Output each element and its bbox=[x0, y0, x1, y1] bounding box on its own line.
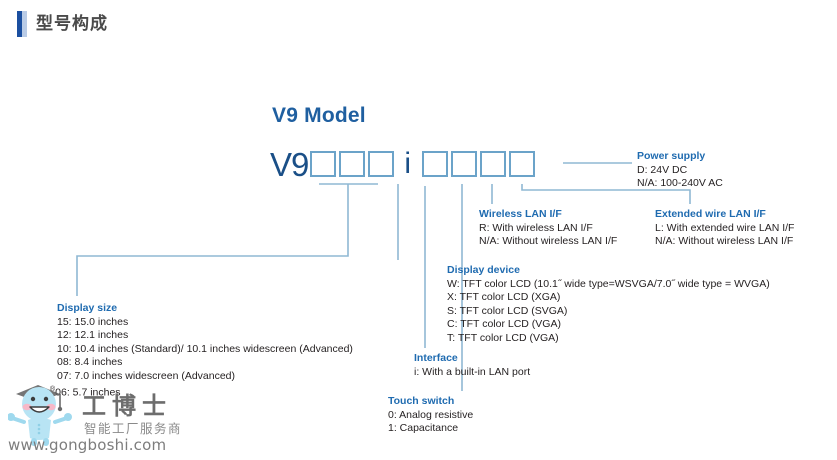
annotation-wireless-lan: Wireless LAN I/F R: With wireless LAN I/… bbox=[479, 208, 617, 249]
annotation-title: Power supply bbox=[637, 150, 723, 164]
annotation-power-supply: Power supply D: 24V DC N/A: 100-240V AC bbox=[637, 150, 723, 191]
annotation-line: D: 24V DC bbox=[637, 164, 723, 178]
code-box-display-size-1[interactable] bbox=[310, 151, 336, 177]
code-box-display-size-2[interactable] bbox=[339, 151, 365, 177]
annotation-line: 0: Analog resistive bbox=[388, 409, 473, 423]
right-box-group bbox=[422, 151, 538, 177]
annotation-line: S: TFT color LCD (SVGA) bbox=[447, 305, 770, 319]
watermark: 工博士 智能工厂服务商 www.gongboshi.com bbox=[2, 378, 212, 460]
code-box-wireless-lan[interactable] bbox=[451, 151, 477, 177]
annotation-line: X: TFT color LCD (XGA) bbox=[447, 291, 770, 305]
code-box-display-device[interactable] bbox=[368, 151, 394, 177]
annotation-title: Extended wire LAN I/F bbox=[655, 208, 794, 222]
annotation-interface: Interface i: With a built-in LAN port bbox=[414, 352, 530, 379]
annotation-line: T: TFT color LCD (VGA) bbox=[447, 332, 770, 346]
code-box-touch-switch[interactable] bbox=[422, 151, 448, 177]
annotation-touch-switch: Touch switch 0: Analog resistive 1: Capa… bbox=[388, 395, 473, 436]
annotation-line: N/A: 100-240V AC bbox=[637, 177, 723, 191]
annotation-display-device: Display device W: TFT color LCD (10.1˝ w… bbox=[447, 264, 770, 345]
annotation-title: Wireless LAN I/F bbox=[479, 208, 617, 222]
annotation-extended-lan: Extended wire LAN I/F L: With extended w… bbox=[655, 208, 794, 249]
annotation-line: L: With extended wire LAN I/F bbox=[655, 222, 794, 236]
model-title: V9 Model bbox=[272, 104, 366, 128]
model-code-row: V9 i bbox=[270, 146, 538, 182]
annotation-title: Display size bbox=[57, 302, 353, 316]
annotation-title: Interface bbox=[414, 352, 530, 366]
model-separator-i: i bbox=[397, 149, 418, 179]
annotation-line: N/A: Without wireless LAN I/F bbox=[655, 235, 794, 249]
annotation-line: R: With wireless LAN I/F bbox=[479, 222, 617, 236]
annotation-line: 1: Capacitance bbox=[388, 422, 473, 436]
annotation-line: i: With a built-in LAN port bbox=[414, 366, 530, 380]
watermark-url: www.gongboshi.com bbox=[8, 436, 166, 454]
annotation-line: C: TFT color LCD (VGA) bbox=[447, 318, 770, 332]
annotation-line: 08: 8.4 inches bbox=[57, 356, 353, 370]
code-box-extended-lan[interactable] bbox=[480, 151, 506, 177]
code-box-power-supply[interactable] bbox=[509, 151, 535, 177]
annotation-title: Display device bbox=[447, 264, 770, 278]
annotation-title: Touch switch bbox=[388, 395, 473, 409]
annotation-line: 10: 10.4 inches (Standard)/ 10.1 inches … bbox=[57, 343, 353, 357]
annotation-line: 15: 15.0 inches bbox=[57, 316, 353, 330]
annotation-line: 12: 12.1 inches bbox=[57, 329, 353, 343]
annotation-line: W: TFT color LCD (10.1˝ wide type=WSVGA/… bbox=[447, 278, 770, 292]
left-box-group bbox=[310, 151, 397, 177]
model-prefix: V9 bbox=[270, 148, 308, 181]
watermark-brand: 工博士 bbox=[82, 386, 172, 421]
annotation-line: N/A: Without wireless LAN I/F bbox=[479, 235, 617, 249]
watermark-subtitle: 智能工厂服务商 bbox=[84, 418, 182, 437]
